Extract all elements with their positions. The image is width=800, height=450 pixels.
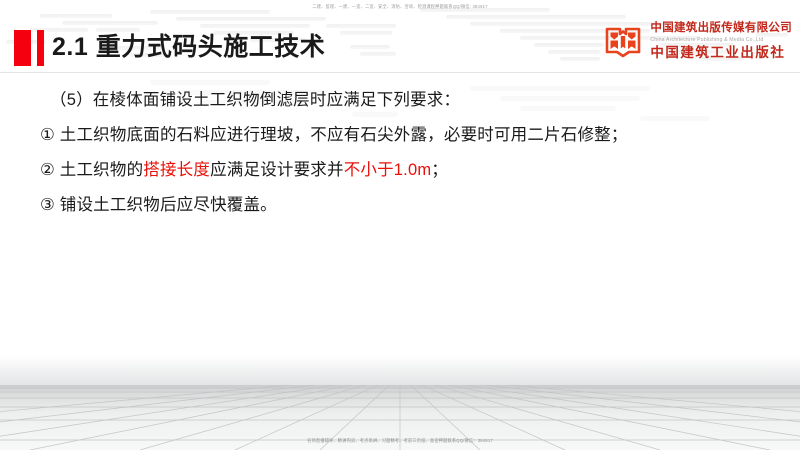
open-book-icon bbox=[603, 22, 643, 62]
text-segment: 应满足设计要求并 bbox=[210, 161, 344, 179]
publisher-logo-text: 中国建筑出版传媒有限公司 China Architecture Publishi… bbox=[650, 23, 792, 60]
publisher-company-name-cn: 中国建筑出版传媒有限公司 bbox=[650, 23, 792, 35]
text-segment: （5）在棱体面铺设土工织物倒滤层时应满足下列要求： bbox=[50, 91, 460, 109]
page-title: 2.1 重力式码头施工技术 bbox=[52, 27, 325, 67]
slide-header: 二建、监理、一建、一造、二造、安全、消防、咨询、检测课程押题联系QQ/微信: 3… bbox=[0, 0, 800, 74]
slide-body: （5）在棱体面铺设土工织物倒滤层时应满足下列要求： ① 土工织物底面的石料应进行… bbox=[0, 74, 800, 385]
header-watermark-text: 二建、监理、一建、一造、二造、安全、消防、咨询、检测课程押题联系QQ/微信: 3… bbox=[0, 3, 800, 10]
accent-block-wide bbox=[14, 30, 31, 66]
highlight-overlap-length: 搭接长度 bbox=[143, 161, 210, 179]
publisher-company-name-en: China Architecture Publishing & Media Co… bbox=[650, 38, 792, 43]
text-segment: ； bbox=[431, 161, 448, 179]
title-accent-marks bbox=[14, 30, 44, 66]
text-segment: ③ 铺设土工织物后应尽快覆盖。 bbox=[40, 196, 277, 214]
content-line-intro: （5）在棱体面铺设土工织物倒滤层时应满足下列要求： bbox=[40, 83, 780, 118]
content-lines: （5）在棱体面铺设土工织物倒滤层时应满足下列要求： ① 土工织物底面的石料应进行… bbox=[40, 83, 780, 223]
content-line-item-2: ② 土工织物的搭接长度应满足设计要求并不小于1.0m； bbox=[40, 153, 780, 188]
text-segment: ① 土工织物底面的石料应进行理坡，不应有石尖外露，必要时可用二片石修整； bbox=[40, 126, 628, 144]
content-line-item-3: ③ 铺设土工织物后应尽快覆盖。 bbox=[40, 188, 780, 223]
publisher-press-name-cn: 中国建筑工业出版社 bbox=[650, 47, 792, 61]
content-line-item-1: ① 土工织物底面的石料应进行理坡，不应有石尖外露，必要时可用二片石修整； bbox=[40, 118, 780, 153]
slide-root: 二建、监理、一建、一造、二造、安全、消防、咨询、检测课程押题联系QQ/微信: 3… bbox=[0, 0, 800, 450]
publisher-logo: 中国建筑出版传媒有限公司 China Architecture Publishi… bbox=[603, 22, 792, 62]
header-divider bbox=[0, 72, 800, 73]
text-segment: ② 土工织物的 bbox=[40, 161, 143, 179]
highlight-min-length: 不小于1.0m bbox=[344, 161, 432, 179]
accent-block-thin bbox=[37, 30, 44, 66]
perspective-floor bbox=[0, 385, 800, 450]
